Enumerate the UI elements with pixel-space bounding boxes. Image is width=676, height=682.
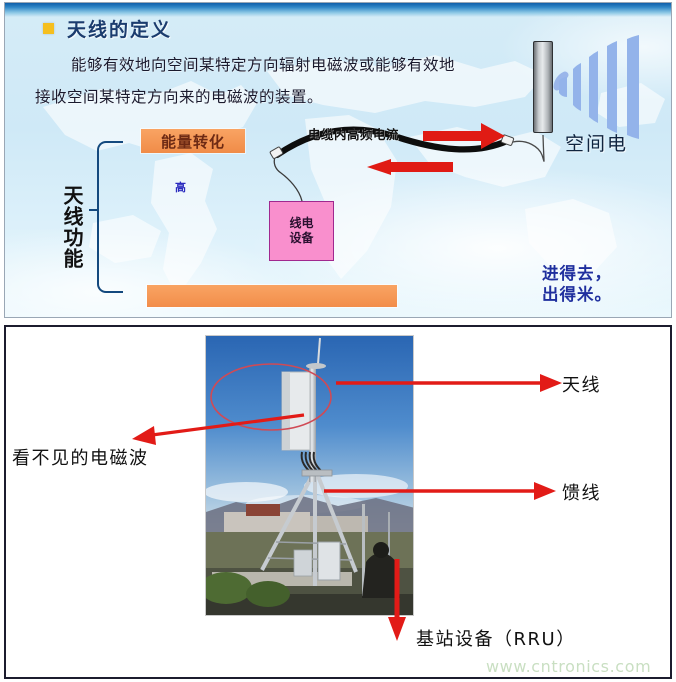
antenna-jumper-wire xyxy=(513,135,544,161)
slogan-line-2: 出得米。 xyxy=(542,284,612,305)
tower-photo-panel: 天线 馈线 看不见的电磁波 基站设备（RRU） www.cntronics.co… xyxy=(4,325,672,679)
feeder-callout-arrow xyxy=(324,482,556,500)
connector-left xyxy=(270,147,284,159)
site-watermark: www.cntronics.com xyxy=(486,657,651,676)
rru-callout-arrow xyxy=(388,559,406,641)
current-arrow-left xyxy=(367,159,453,175)
device-lead-wire xyxy=(274,157,302,201)
slogan-text: 进得去， 出得米。 xyxy=(542,263,612,305)
label-antenna: 天线 xyxy=(562,371,601,397)
label-feeder: 馈线 xyxy=(562,479,601,505)
antenna-element xyxy=(533,41,553,133)
definition-slide-panel: 天线的定义 能够有效地向空间某特定方向辐射电磁波或能够有效地 接收空间某特定方向… xyxy=(4,2,672,318)
antenna-callout-arrow xyxy=(336,374,562,392)
label-rru: 基站设备（RRU） xyxy=(416,625,576,651)
label-invisible-waves: 看不见的电磁波 xyxy=(12,444,149,470)
slide-page: 天线的定义 能够有效地向空间某特定方向辐射电磁波或能够有效地 接收空间某特定方向… xyxy=(0,0,676,682)
radiation-waves-icon xyxy=(553,31,672,143)
cable-current-label: 电缆内高频电流 xyxy=(308,124,399,143)
slogan-line-1: 进得去， xyxy=(542,263,612,284)
space-wave-label: 空间电 xyxy=(565,129,628,156)
